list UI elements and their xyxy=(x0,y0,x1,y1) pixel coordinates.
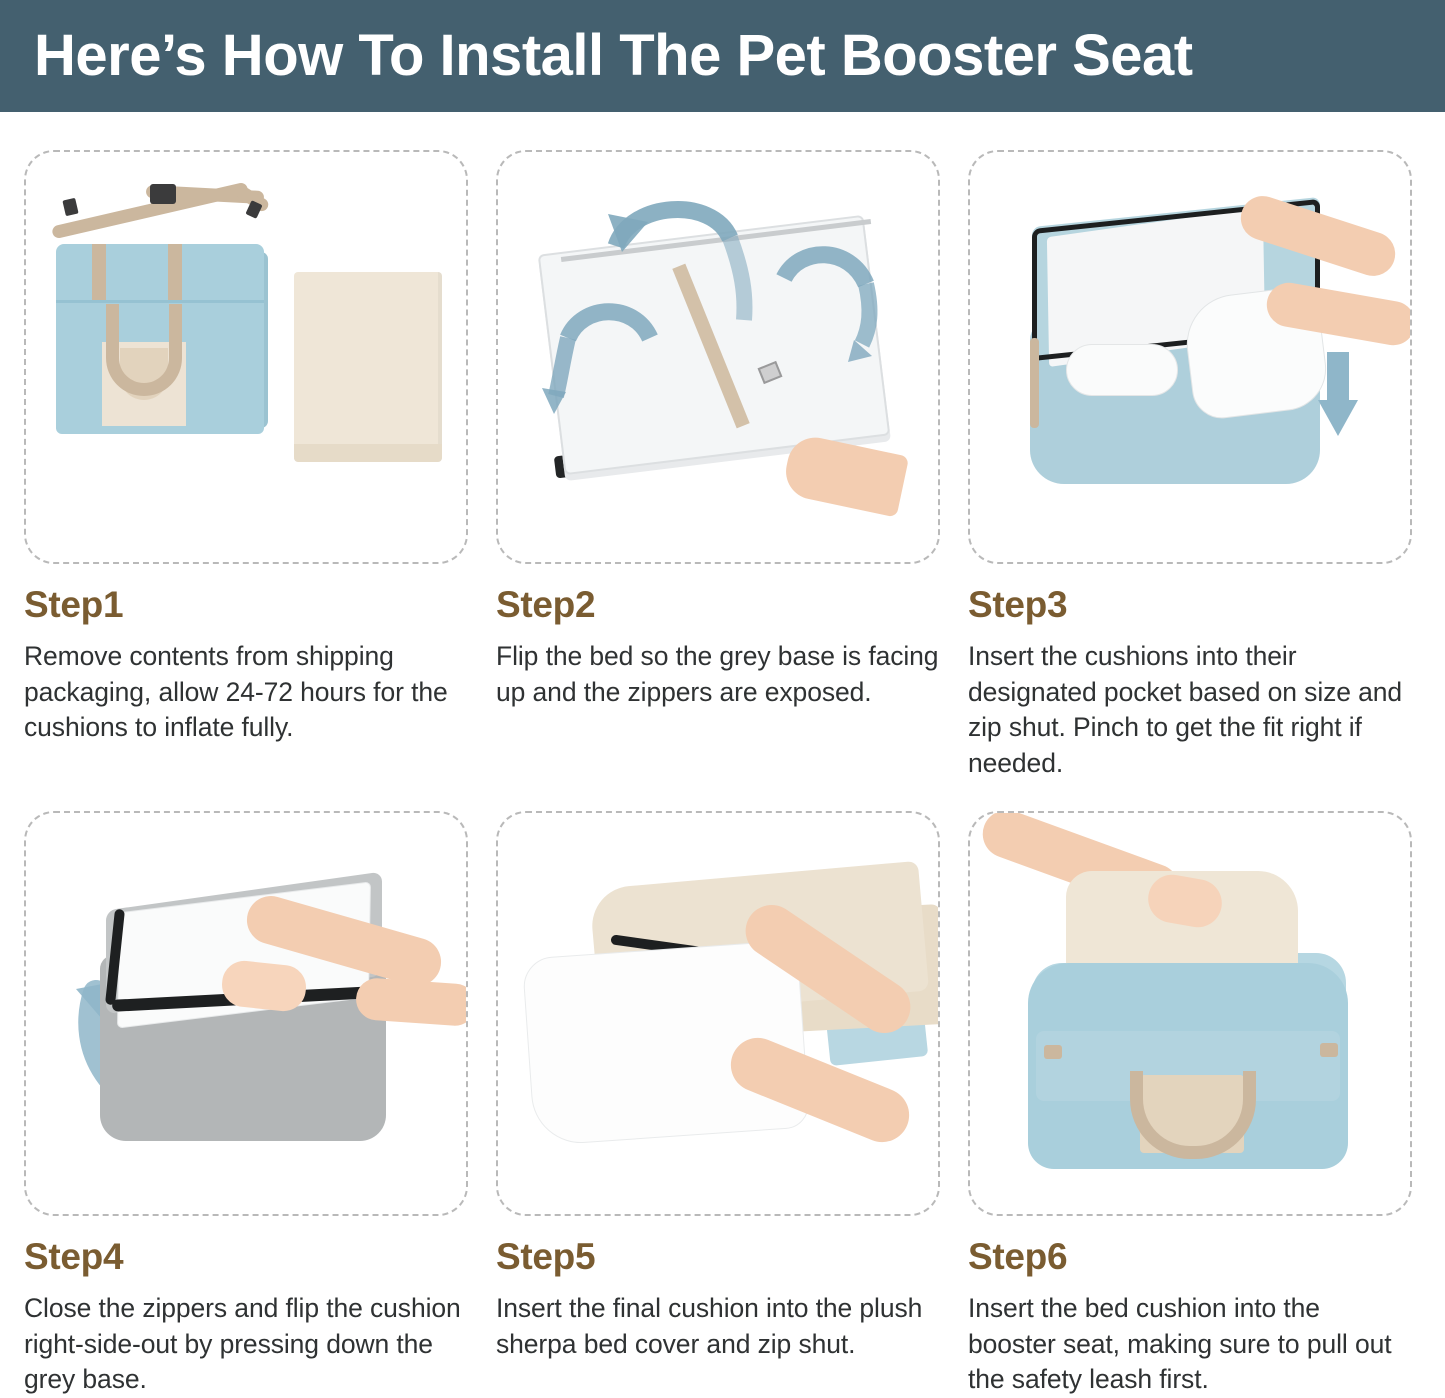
strap-buckle-icon xyxy=(150,184,176,204)
arm-holding-edge xyxy=(355,977,468,1027)
page-header: Here’s How To Install The Pet Booster Se… xyxy=(0,0,1445,112)
step-body-3: Insert the cushions into their designate… xyxy=(968,639,1412,781)
step-body-2: Flip the bed so the grey base is facing … xyxy=(496,639,940,710)
step-illustration-panel-6 xyxy=(968,811,1412,1216)
steps-row-bottom: Step4 Close the zippers and flip the cus… xyxy=(24,811,1421,1398)
flipped-bed-illustration xyxy=(498,152,938,562)
pressing-grey-base-illustration xyxy=(26,813,466,1214)
steps-grid: Step1 Remove contents from shipping pack… xyxy=(0,150,1445,1398)
sherpa-blanket xyxy=(294,272,442,462)
flip-arrows-icon xyxy=(498,152,940,564)
steps-row-top: Step1 Remove contents from shipping pack… xyxy=(24,150,1421,781)
step-cell-4: Step4 Close the zippers and flip the cus… xyxy=(24,811,468,1398)
tote-bag-and-sherpa-blanket-illustration xyxy=(26,152,466,562)
step-cell-2: Step2 Flip the bed so the grey base is f… xyxy=(496,150,940,781)
bag-pocket-seam xyxy=(56,300,264,303)
insert-down-arrow-icon xyxy=(970,152,1412,564)
step-cell-3: Step3 Insert the cushions into their des… xyxy=(968,150,1412,781)
inserting-cushions-illustration xyxy=(970,152,1410,562)
bag-carry-handle xyxy=(106,304,182,396)
step-label-3: Step3 xyxy=(968,586,1412,623)
assembled-booster-seat-illustration xyxy=(970,813,1410,1214)
strap-slider-left-icon xyxy=(62,198,78,217)
step-illustration-panel-4 xyxy=(24,811,468,1216)
step-label-2: Step2 xyxy=(496,586,940,623)
bag-vertical-strap-right xyxy=(168,244,182,301)
step-illustration-panel-5 xyxy=(496,811,940,1216)
step-label-1: Step1 xyxy=(24,586,468,623)
leash-tab-left xyxy=(1044,1045,1062,1059)
leash-tab-right xyxy=(1320,1043,1338,1057)
step-illustration-panel-3 xyxy=(968,150,1412,564)
bag-vertical-strap-left xyxy=(92,244,106,301)
step-label-5: Step5 xyxy=(496,1238,940,1275)
step-label-6: Step6 xyxy=(968,1238,1412,1275)
inserting-cushion-into-sherpa-illustration xyxy=(498,813,938,1214)
step-cell-1: Step1 Remove contents from shipping pack… xyxy=(24,150,468,781)
step-body-5: Insert the final cushion into the plush … xyxy=(496,1291,940,1362)
step-label-4: Step4 xyxy=(24,1238,468,1275)
step-cell-5: Step5 Insert the final cushion into the … xyxy=(496,811,940,1398)
step-body-4: Close the zippers and flip the cushion r… xyxy=(24,1291,468,1398)
step-illustration-panel-2 xyxy=(496,150,940,564)
step-illustration-panel-1 xyxy=(24,150,468,564)
step-cell-6: Step6 Insert the bed cushion into the bo… xyxy=(968,811,1412,1398)
sherpa-blanket-fold xyxy=(294,444,442,462)
step-body-6: Insert the bed cushion into the booster … xyxy=(968,1291,1412,1398)
step-body-1: Remove contents from shipping packaging,… xyxy=(24,639,468,746)
page-title: Here’s How To Install The Pet Booster Se… xyxy=(34,27,1193,85)
